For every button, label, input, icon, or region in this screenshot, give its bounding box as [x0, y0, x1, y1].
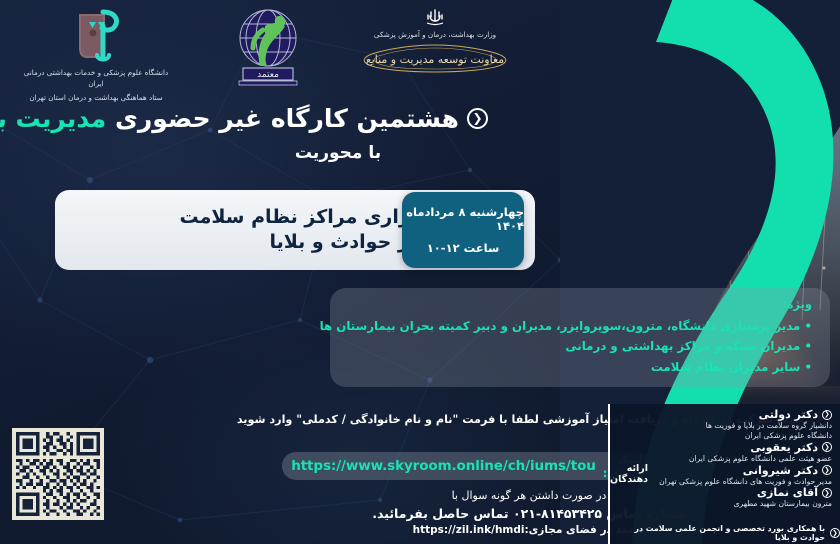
workshop-link-url[interactable]: https://www.skyroom.online/ch/iums/tou — [291, 458, 596, 474]
speakers-footer-row: ❮ با همکاری بورد تخصصی و انجمن علمی سلام… — [608, 524, 840, 542]
list-item: ❮ آقای نمازی مترون بیمارستان شهید مطهری — [654, 486, 832, 509]
header-logos: دانشگاه علوم پزشکی و خدمات بهداشتی درمان… — [0, 0, 600, 108]
collaboration-note: با همکاری بورد تخصصی و انجمن علمی سلامت … — [608, 524, 825, 542]
speaker-role-line-1: عضو هیئت علمی دانشگاه علوم پزشکی ایران — [654, 454, 832, 464]
audience-box: ویژه: مدیر پرستاری دانشگاه، مترون،سوپروا… — [330, 288, 830, 387]
logo-ministry-caption-line1: وزارت بهداشت، درمان و آموزش پزشکی — [340, 29, 530, 40]
audience-heading: ویژه: — [348, 297, 812, 311]
event-time: ساعت ۱۲-۱۰ — [427, 241, 500, 255]
chevron-left-xs-icon: ❮ — [822, 442, 832, 452]
svg-text:معاونت توسعه مدیریت و منابع: معاونت توسعه مدیریت و منابع — [366, 53, 504, 66]
svg-text:معتمد: معتمد — [257, 70, 279, 80]
logo-iums-caption-line1: دانشگاه علوم پزشکی و خدمات بهداشتی درمان… — [16, 67, 176, 89]
list-item: مدیر پرستاری دانشگاه، مترون،سوپروایزر، م… — [348, 316, 812, 336]
date-time-chip: چهارشنبه ۸ مردادماه ۱۴۰۴ ساعت ۱۲-۱۰ — [402, 192, 524, 268]
list-item: ❮ دکتر شیروانی مدیر حوادث و فوریت های دا… — [654, 464, 832, 487]
audience-list: مدیر پرستاری دانشگاه، مترون،سوپروایزر، م… — [348, 316, 812, 377]
main-title: هشتمین کارگاه غیر حضوری مدیریت بحران و ب… — [0, 104, 459, 133]
main-title-lead: هشتمین کارگاه غیر حضوری — [115, 104, 459, 133]
speaker-role-line-1: مترون بیمارستان شهید مطهری — [654, 499, 832, 509]
chevron-left-xs-icon: ❮ — [822, 488, 832, 498]
list-item: سایر مدیران نظام سلامت — [348, 357, 812, 377]
list-item: ❮ دکتر یعقوبی عضو هیئت علمی دانشگاه علوم… — [654, 441, 832, 464]
list-item: مدیران شبکه و مراکز بهداشتی و درمانی — [348, 336, 812, 356]
qr-code[interactable] — [12, 428, 104, 520]
speaker-role-line-1: مدیر حوادث و فوریت های دانشگاه علوم پزشک… — [654, 477, 832, 487]
speaker-name: دکتر دولتی — [759, 408, 818, 421]
chevron-left-icon: ❮ — [467, 108, 488, 129]
main-title-accent: مدیریت بحران و بلایا — [0, 104, 106, 133]
speaker-name-row: ❮ دکتر شیروانی — [654, 464, 832, 477]
logo-ministry: وزارت بهداشت، درمان و آموزش پزشکی معاونت… — [340, 8, 530, 73]
logo-hmdi: معتمد — [208, 4, 328, 86]
speaker-name: دکتر شیروانی — [743, 464, 818, 477]
speaker-role-line-2: دانشگاه علوم پزشکی ایران — [654, 431, 832, 441]
speakers-panel: ❮ دکتر دولتی دانشیار گروه سلامت در بلایا… — [608, 404, 840, 544]
iran-emblem-icon — [425, 8, 445, 26]
workshop-link-pill[interactable]: لینک کارگاه: https://www.skyroom.online/… — [282, 452, 652, 480]
qr-code-icon — [16, 432, 100, 516]
speaker-name: آقای نمازی — [757, 486, 818, 499]
ministry-ornament-icon: معاونت توسعه مدیریت و منابع — [355, 43, 515, 73]
speaker-role-line-1: دانشیار گروه سلامت در بلایا و فوریت ها — [654, 421, 832, 431]
speaker-name: دکتر یعقوبی — [750, 441, 818, 454]
speakers-label: ارائه دهندگان — [608, 404, 648, 544]
chevron-left-xs-icon: ❮ — [822, 410, 832, 420]
iums-emblem-icon — [65, 8, 127, 64]
main-title-row: ❮ هشتمین کارگاه غیر حضوری مدیریت بحران و… — [18, 104, 488, 133]
list-item: ❮ دکتر دولتی دانشیار گروه سلامت در بلایا… — [654, 408, 832, 441]
chevron-left-xs-icon: ❮ — [830, 528, 840, 538]
speaker-name-row: ❮ آقای نمازی — [654, 486, 832, 499]
event-date: چهارشنبه ۸ مردادماه ۱۴۰۴ — [402, 205, 524, 233]
poster-canvas: دانشگاه علوم پزشکی و خدمات بهداشتی درمان… — [0, 0, 840, 544]
subtitle: با محوریت — [188, 143, 488, 163]
logo-iums: دانشگاه علوم پزشکی و خدمات بهداشتی درمان… — [16, 8, 176, 103]
hmdi-globe-icon: معتمد — [229, 4, 307, 86]
speaker-name-row: ❮ دکتر یعقوبی — [654, 441, 832, 454]
speaker-name-row: ❮ دکتر دولتی — [654, 408, 832, 421]
speakers-list: ❮ دکتر دولتی دانشیار گروه سلامت در بلایا… — [648, 404, 840, 544]
chevron-left-xs-icon: ❮ — [822, 465, 832, 475]
logo-iums-caption-line2: ستاد هماهنگی بهداشت و درمان استان تهران — [16, 92, 176, 103]
